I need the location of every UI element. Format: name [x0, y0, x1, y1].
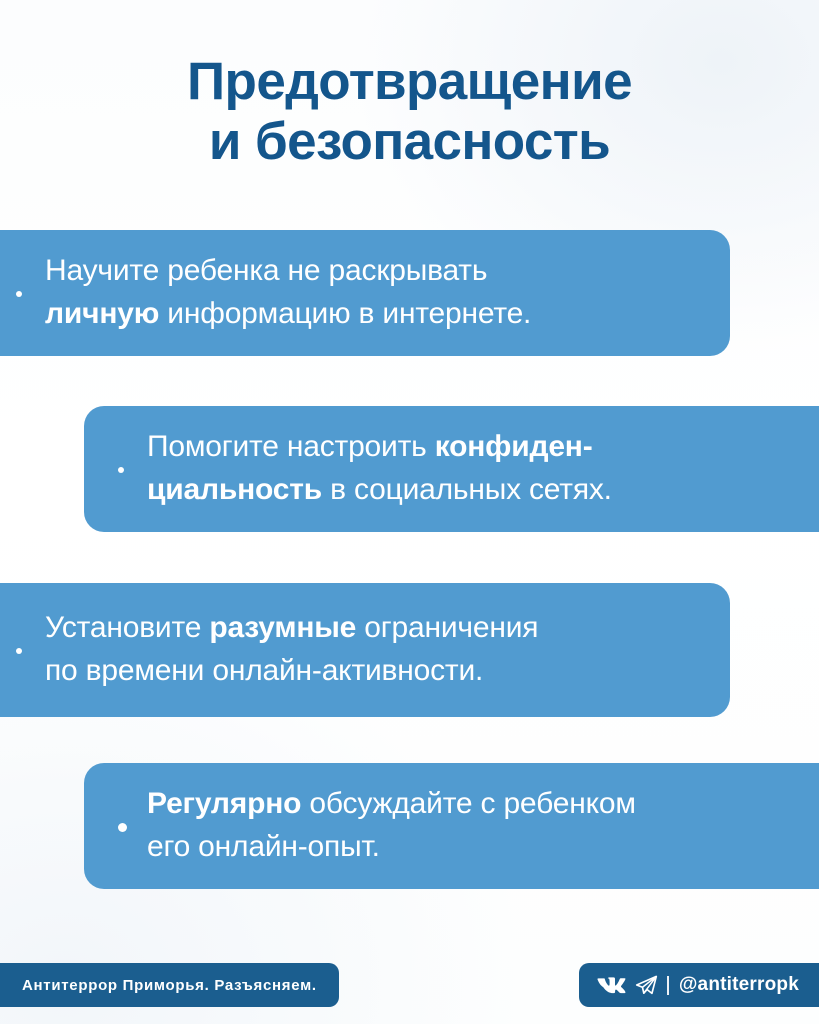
bullet-icon	[118, 467, 124, 473]
tip-card-3-text: Установите разумные ограничения по време…	[45, 607, 538, 692]
infographic-poster: Предотвращение и безопасность Научите ре…	[0, 0, 819, 1024]
tip-card-2-text: Помогите настроить конфиден- циальность …	[147, 426, 612, 511]
tip-1-line-1-part-1: Научите ребенка не раскрывать	[45, 254, 487, 287]
tip-2-line-1-part-1: Помогите настроить	[147, 430, 435, 463]
bullet-icon	[118, 823, 127, 832]
footer-social-pill[interactable]: @antiterropk	[579, 963, 819, 1007]
footer-brand-label: Антитеррор Приморья. Разъясняем.	[22, 977, 317, 994]
vk-icon[interactable]	[597, 976, 627, 995]
title-line-2: и безопасность	[0, 112, 819, 172]
tip-3-line-1-part-3: ограничения	[364, 611, 538, 644]
tip-card-1-text: Научите ребенка не раскрывать личную инф…	[45, 250, 531, 335]
tip-1-line-2-part-1: личную	[45, 297, 167, 330]
tip-2-line-2-part-1: циальность	[147, 473, 322, 506]
page-title: Предотвращение и безопасность	[0, 52, 819, 172]
tip-3-line-1-part-1: Установите	[45, 611, 209, 644]
tip-card-2: Помогите настроить конфиден- циальность …	[84, 406, 819, 532]
title-line-1: Предотвращение	[0, 52, 819, 112]
footer-handle-label: @antiterropk	[679, 974, 799, 996]
tip-1-line-2-part-2: информацию в интернете.	[167, 297, 531, 330]
tip-4-line-1-part-1: Регулярно	[147, 787, 309, 820]
social-divider	[667, 976, 669, 995]
bullet-icon	[16, 648, 22, 654]
tip-4-line-1-part-2: обсуждайте с ребенком	[309, 787, 635, 820]
footer: Антитеррор Приморья. Разъясняем. @antite…	[0, 963, 819, 1019]
tip-card-4: Регулярно обсуждайте с ребенком его онла…	[84, 763, 819, 889]
tip-3-line-1-part-2: разумные	[209, 611, 364, 644]
bullet-icon	[16, 291, 22, 297]
tip-card-3: Установите разумные ограничения по време…	[0, 583, 730, 717]
tip-4-line-2-part-1: его онлайн-опыт.	[147, 830, 380, 863]
footer-brand-pill: Антитеррор Приморья. Разъясняем.	[0, 963, 339, 1007]
tip-3-line-2-part-1: по времени онлайн-активности.	[45, 654, 483, 687]
tip-2-line-2-part-2: в социальных сетях.	[322, 473, 612, 506]
tip-2-line-1-part-2: конфиден-	[435, 430, 593, 463]
tip-card-4-text: Регулярно обсуждайте с ребенком его онла…	[147, 783, 636, 868]
telegram-icon[interactable]	[635, 975, 658, 996]
tip-card-1: Научите ребенка не раскрывать личную инф…	[0, 230, 730, 356]
